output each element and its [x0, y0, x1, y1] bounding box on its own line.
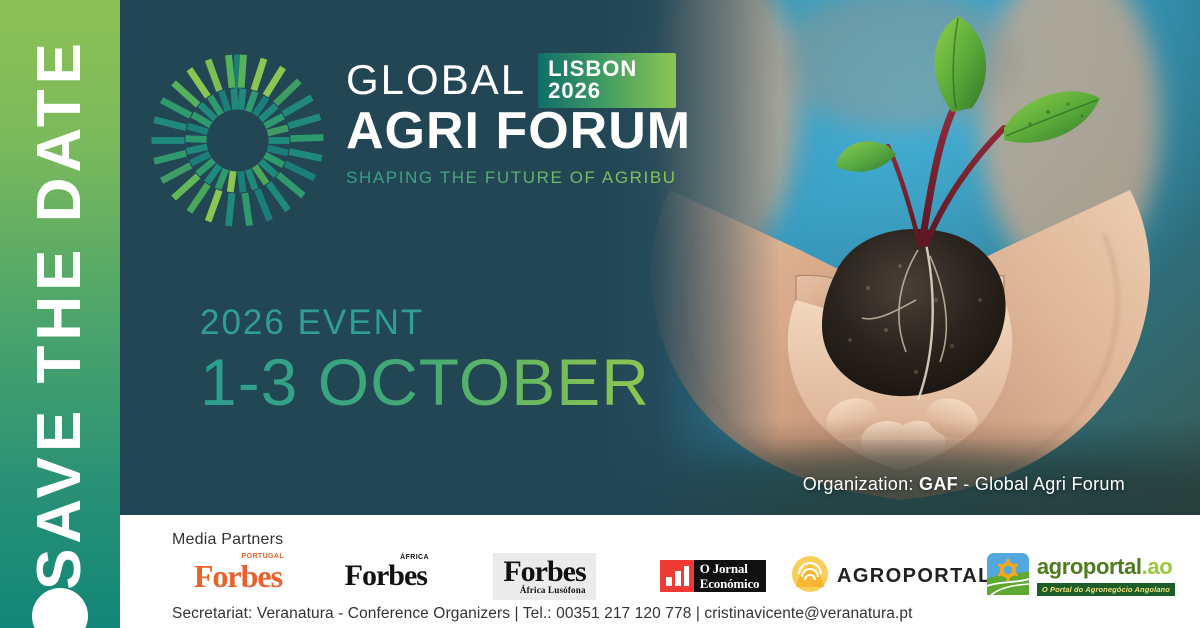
save-the-date-rail: SAVE THE DATE [0, 0, 120, 628]
partner-logo-forbes-africa[interactable]: Forbes ÁFRICA [312, 554, 460, 598]
secretariat-line: Secretariat: Veranatura - Conference Org… [172, 605, 913, 623]
rail-dot-decoration [32, 588, 88, 628]
hero-photo-hands-seedling [600, 0, 1200, 515]
agroportal-ao-wordmark: agroportal [1037, 554, 1142, 579]
media-partners-row: Forbes PORTUGAL Forbes ÁFRICA Forbes Áfr… [164, 554, 1184, 598]
logo-word-agri-forum: AGRI FORUM [346, 104, 676, 159]
jornal-economico-mark-icon [660, 560, 694, 592]
partner-logo-forbes-africa-lusofona[interactable]: Forbes África Lusófona [460, 554, 630, 598]
organization-acronym: GAF [919, 474, 958, 494]
agroportal-ao-subtitle: O Portal do Agronegócio Angolano [1037, 583, 1175, 596]
partner-logo-o-jornal-economico[interactable]: O Jornal Económico [629, 554, 797, 598]
organization-name: Global Agri Forum [975, 474, 1125, 494]
logo-tagline: SHAPING THE FUTURE OF AGRIBUSINESS [346, 168, 676, 188]
partner-logo-agroportal[interactable]: AGROPORTAL [797, 554, 987, 598]
sunburst-circle-logo-icon [150, 53, 325, 228]
partner-logo-forbes-portugal[interactable]: Forbes PORTUGAL [164, 554, 312, 598]
agroportal-ao-badge-icon [987, 553, 1029, 600]
media-partners-label: Media Partners [172, 531, 283, 549]
forbes-portugal-superscript: PORTUGAL [242, 553, 284, 560]
agroportal-sun-icon [792, 556, 828, 597]
jornal-economico-line2: Económico [700, 576, 760, 591]
event-date-block: 2026 EVENT 1-3 OCTOBER [200, 305, 650, 417]
event-dates: 1-3 OCTOBER [200, 348, 650, 417]
jornal-economico-line1: O Jornal [700, 561, 760, 576]
forbes-africa-superscript: ÁFRICA [400, 554, 429, 561]
organization-separator: - [963, 474, 969, 494]
organization-line: Organization: GAF - Global Agri Forum [803, 474, 1125, 495]
logo-lisbon-badge: LISBON 2026 [538, 53, 676, 108]
agroportal-ao-tld: .ao [1142, 554, 1173, 579]
agroportal-wordmark: AGROPORTAL [837, 565, 992, 588]
save-the-date-poster: SAVE THE DATE [0, 0, 1200, 628]
organization-prefix: Organization: [803, 474, 914, 494]
save-the-date-label: SAVE THE DATE [29, 38, 91, 590]
footer: Media Partners Forbes PORTUGAL Forbes ÁF… [120, 515, 1200, 628]
partner-logo-agroportal-ao[interactable]: agroportal.ao O Portal do Agronegócio An… [987, 554, 1184, 598]
global-agri-forum-logo: GLOBAL LISBON 2026 AGRI FORUM SHAPING TH… [150, 50, 670, 215]
event-year-label: 2026 EVENT [200, 305, 650, 340]
forbes-africa-wordmark: Forbes [345, 559, 427, 592]
forbes-lusofona-wordmark: Forbes [503, 555, 585, 588]
logo-word-global: GLOBAL [346, 59, 526, 101]
forbes-portugal-wordmark: Forbes [194, 558, 282, 594]
